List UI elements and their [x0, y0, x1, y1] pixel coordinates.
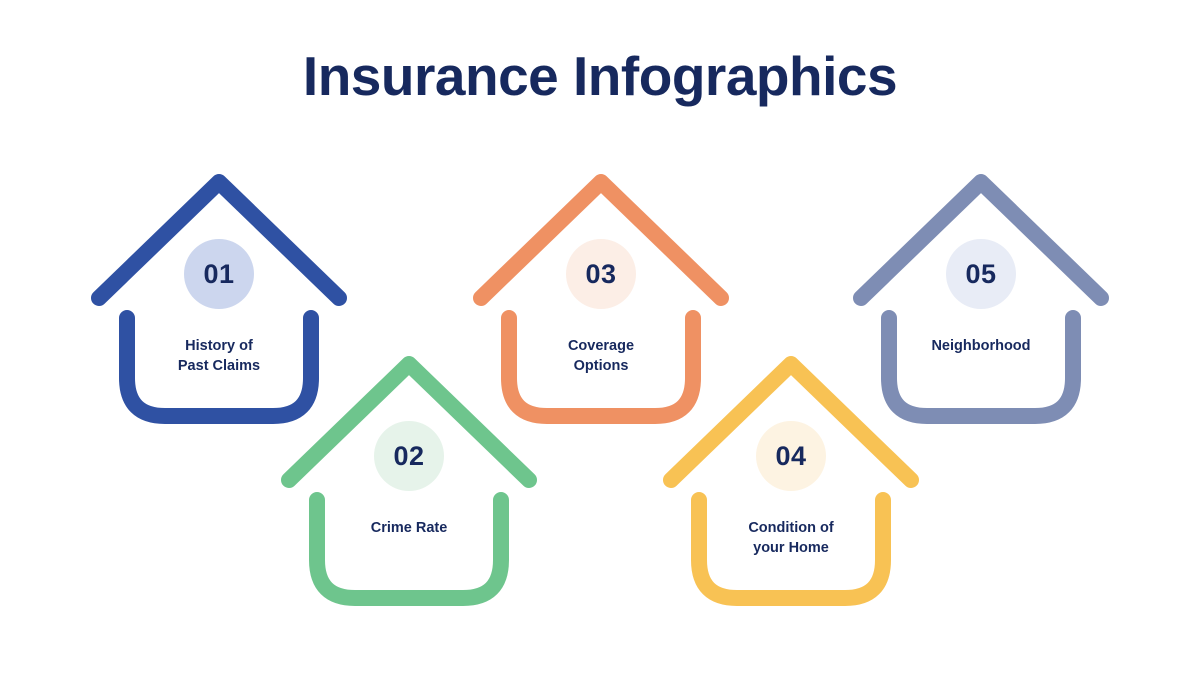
- house-steps-container: 01 History of Past Claims 02 Crime Rate …: [0, 0, 1200, 675]
- step-number-badge-03: 03: [566, 239, 636, 309]
- step-number-badge-04: 04: [756, 421, 826, 491]
- step-label-line1: Crime Rate: [299, 519, 519, 539]
- step-number-text: 05: [965, 261, 996, 288]
- infographic-slide: Insurance Infographics 01 History of Pas…: [0, 0, 1200, 675]
- step-number-badge-02: 02: [374, 421, 444, 491]
- house-body-shape: [317, 500, 501, 598]
- step-label-line2: your Home: [681, 539, 901, 559]
- step-number-text: 02: [393, 443, 424, 470]
- step-number-text: 01: [203, 261, 234, 288]
- step-number-badge-05: 05: [946, 239, 1016, 309]
- step-label: Neighborhood: [871, 337, 1091, 357]
- step-number-badge-01: 01: [184, 239, 254, 309]
- house-body-shape: [889, 318, 1073, 416]
- step-number-text: 04: [775, 443, 806, 470]
- step-label-line1: Neighborhood: [871, 337, 1091, 357]
- step-label: Crime Rate: [299, 519, 519, 539]
- step-label: Condition of your Home: [681, 519, 901, 558]
- house-step-05[interactable]: 05 Neighborhood: [851, 172, 1111, 424]
- step-number-text: 03: [585, 261, 616, 288]
- step-label-line1: Condition of: [681, 519, 901, 539]
